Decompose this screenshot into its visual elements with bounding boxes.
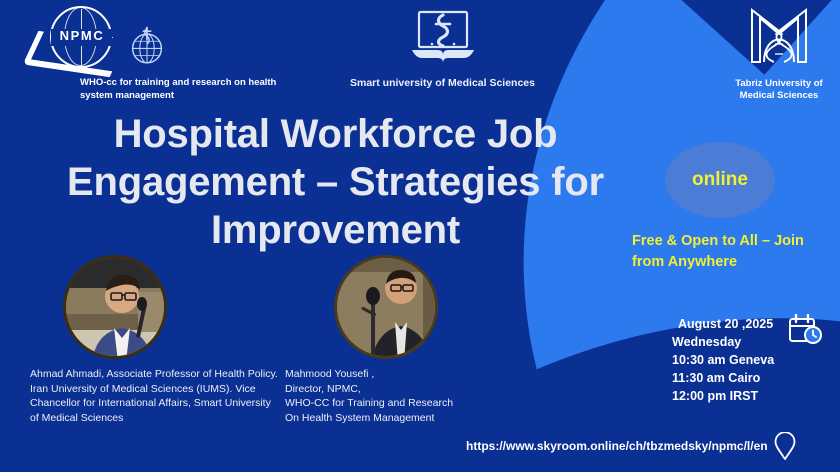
logo-smart-university-caption: Smart university of Medical Sciences — [340, 77, 545, 89]
speaker-bio-1: Ahmad Ahmadi, Associate Professor of Hea… — [30, 367, 280, 425]
online-badge: online — [665, 142, 775, 218]
speaker-bio-2-line-1: Mahmood Yousefi , — [285, 368, 374, 380]
speaker-photo-mahmood-yousefi — [334, 255, 438, 359]
logo-npmc: NPMC WHO-cc for training and research on… — [22, 6, 302, 102]
logo-tabriz-university-caption: Tabriz University of Medical Sciences — [718, 78, 840, 102]
speaker-bio-2: Mahmood Yousefi , Director, NPMC, WHO-CC… — [285, 367, 500, 425]
schedule-time-cairo: 11:30 am Cairo — [672, 369, 797, 387]
speaker-photo-1-illustration — [66, 258, 167, 359]
arch-dna-helix-icon — [744, 4, 814, 70]
speaker-bio-2-line-3: WHO-CC for Training and Research — [285, 397, 453, 409]
speaker-photo-ahmad-ahmadi — [63, 255, 167, 359]
schedule-block: August 20 ,2025 Wednesday 10:30 am Genev… — [672, 315, 797, 405]
webinar-poster: NPMC WHO-cc for training and research on… — [0, 0, 840, 472]
who-emblem-icon — [124, 24, 170, 70]
logo-npmc-caption: WHO-cc for training and research on heal… — [80, 76, 285, 102]
calendar-clock-icon — [788, 314, 824, 346]
free-open-text: Free & Open to All – Join from Anywhere — [632, 231, 832, 273]
logo-tabriz-university: Tabriz University of Medical Sciences — [718, 4, 840, 102]
online-badge-label: online — [692, 169, 748, 191]
schedule-date: August 20 ,2025 — [672, 315, 797, 333]
location-pin-icon — [774, 432, 796, 460]
speaker-bio-2-line-2: Director, NPMC, — [285, 383, 361, 395]
logo-smart-university: Smart university of Medical Sciences — [340, 8, 545, 89]
webinar-link-row[interactable]: https://www.skyroom.online/ch/tbzmedsky/… — [466, 432, 796, 460]
speaker-photo-2-illustration — [337, 258, 438, 359]
schedule-time-irst: 12:00 pm IRST — [672, 387, 797, 405]
schedule-weekday: Wednesday — [672, 333, 797, 351]
webinar-url[interactable]: https://www.skyroom.online/ch/tbzmedsky/… — [466, 439, 768, 453]
speaker-card-2: Mahmood Yousefi , Director, NPMC, WHO-CC… — [285, 255, 500, 425]
laptop-book-caduceus-icon — [406, 8, 480, 70]
speaker-bio-2-line-4: On Health System Management — [285, 412, 434, 424]
poster-title: Hospital Workforce Job Engagement – Stra… — [48, 110, 623, 254]
speaker-card-1: Ahmad Ahmadi, Associate Professor of Hea… — [30, 255, 280, 425]
npmc-acronym: NPMC — [52, 28, 112, 43]
npmc-globe-hand-icon: NPMC — [28, 6, 158, 72]
schedule-time-geneva: 10:30 am Geneva — [672, 351, 797, 369]
